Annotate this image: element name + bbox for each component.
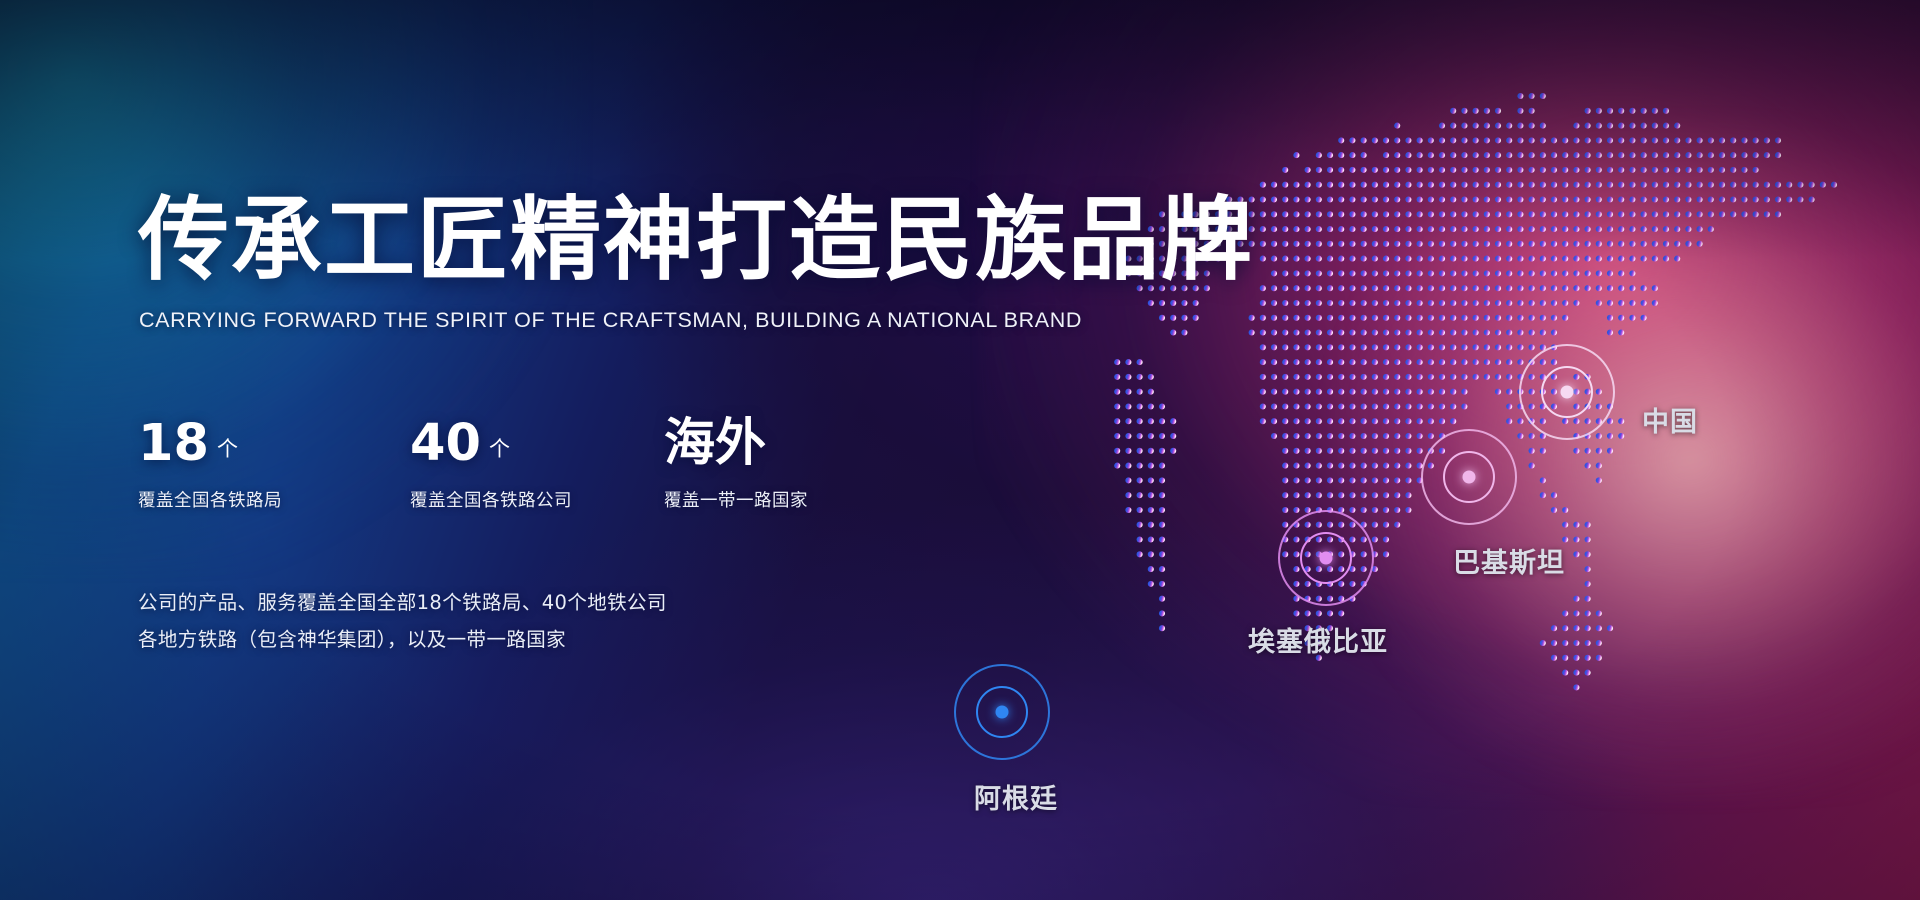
banner-content: 传承工匠精神打造民族品牌 CARRYING FORWARD THE SPIRIT… — [0, 0, 1920, 900]
banner-stage: 中国巴基斯坦埃塞俄比亚阿根廷 传承工匠精神打造民族品牌 CARRYING FOR… — [0, 0, 1920, 900]
description-line-2: 各地方铁路（包含神华集团），以及一带一路国家 — [138, 622, 667, 659]
stat-value: 海外 — [664, 414, 766, 473]
stat-value: 18 — [138, 414, 209, 473]
stat-unit: 个 — [489, 437, 510, 461]
stat-caption: 覆盖全国各铁路局 — [138, 487, 282, 512]
stat-item: 40个 覆盖全国各铁路公司 — [410, 418, 572, 512]
stat-unit: 个 — [217, 437, 238, 461]
stats-row: 18个 覆盖全国各铁路局 40个 覆盖全国各铁路公司 海外 覆盖一带一路国家 — [138, 418, 898, 523]
page-title: 传承工匠精神打造民族品牌 — [138, 194, 1254, 289]
description-block: 公司的产品、服务覆盖全国全部18个铁路局、40个地铁公司 各地方铁路（包含神华集… — [138, 585, 667, 658]
stat-item: 海外 覆盖一带一路国家 — [664, 418, 808, 512]
page-subtitle: CARRYING FORWARD THE SPIRIT OF THE CRAFT… — [139, 308, 1082, 333]
stat-caption: 覆盖全国各铁路公司 — [410, 487, 572, 512]
stat-caption: 覆盖一带一路国家 — [664, 487, 808, 512]
description-line-1: 公司的产品、服务覆盖全国全部18个铁路局、40个地铁公司 — [138, 585, 667, 622]
stat-value: 40 — [410, 414, 481, 473]
stat-item: 18个 覆盖全国各铁路局 — [138, 418, 282, 512]
